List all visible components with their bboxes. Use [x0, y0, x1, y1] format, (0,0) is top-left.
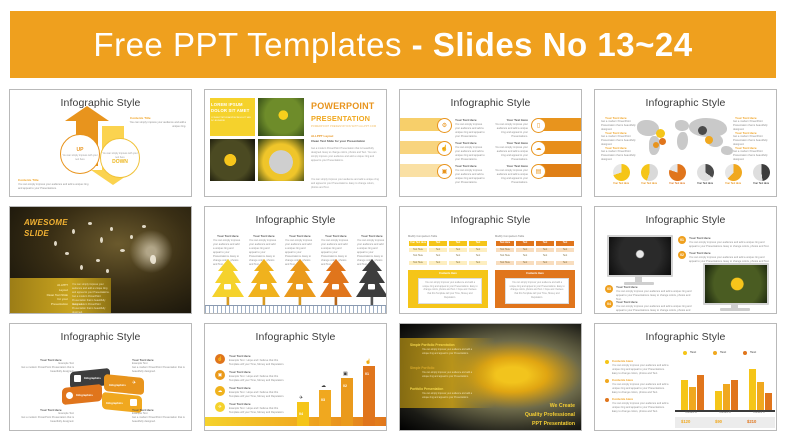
pie-label-5: Your Text Here	[723, 183, 743, 185]
row-left-body-1: You can simply impress your audience and…	[455, 123, 487, 139]
kicker-1: ALLPPT Layout	[311, 134, 333, 138]
table-cell: Text	[428, 260, 448, 267]
bar-chart-plot	[677, 362, 775, 410]
bubble-callout-body-4: Get a modern PowerPoint Presentation tha…	[132, 416, 188, 424]
slide-24-content: Infographic Style Text Text Text Content…	[595, 324, 776, 430]
awesome-line-1: AWESOME	[24, 218, 68, 227]
tagline-line-3: PPT Presentation	[532, 421, 575, 427]
pie-chart-4	[697, 164, 714, 181]
list-heading-3: Your Text Here	[229, 386, 251, 390]
monitor-1-screen	[607, 235, 673, 277]
page-root: Free PPT Templates - Slides No 13~24 Inf…	[0, 0, 786, 445]
value-label-2: $90	[715, 419, 722, 424]
tagline-line-1: We Create	[550, 403, 575, 409]
pie-chart-5	[725, 164, 742, 181]
slide-thumbnail-22[interactable]: Infographic Style ☝ Your Text Here Examp…	[204, 323, 387, 431]
map-marker-3	[653, 142, 659, 148]
list-heading-4: Your Text Here	[229, 402, 251, 406]
slide-13-callout-heading-2: Contents Title	[18, 178, 39, 182]
pie-chart-2	[641, 164, 658, 181]
slide-13-callout-heading-1: Contents Title	[130, 116, 151, 120]
number-badge-04: 04	[605, 300, 613, 308]
headline-line-3: POWERPOINT PRESENTATION WITH ALLPPT.COM	[311, 125, 376, 128]
number-badge-03: 03	[605, 285, 613, 293]
slide-19-content: Infographic Style Modify Comparison Tabl…	[400, 207, 581, 313]
bullet-body-3: You can simply impress your audience and…	[612, 402, 670, 414]
rocket-icon: ✈	[215, 402, 225, 412]
table-cell: Text	[555, 260, 575, 267]
slide-17-content: AWESOME SLIDE ALLPPT Layout Clean Text S…	[10, 207, 191, 313]
tree-heading-5: Your Text Here	[361, 234, 383, 238]
monitor-2-base	[720, 308, 750, 311]
thumbs-up-icon: ☝	[365, 359, 371, 365]
caption-line-3: Clean Text Slide	[47, 293, 68, 297]
item-body-04: You can simply impress your audience and…	[616, 305, 694, 313]
bullet-heading-1: Contents Here	[612, 359, 633, 363]
bubble-label-2: Infographics	[109, 383, 126, 387]
slide-16-title: Infographic Style	[595, 97, 776, 109]
value-label-1: $120	[681, 419, 690, 424]
legend-dot-3	[743, 351, 747, 355]
caption-left-lines: ALLPPT Layout Clean Text Slide for your …	[38, 283, 68, 307]
headline-line-2: PRESENTATION	[311, 114, 370, 123]
item-body-01: You can simply impress your audience and…	[689, 241, 771, 249]
slide-thumbnail-19[interactable]: Infographic Style Modify Comparison Tabl…	[399, 206, 582, 314]
slide-19-title: Infographic Style	[400, 214, 581, 226]
slide-23-content: Simple Portfolio Presentation You can si…	[400, 324, 581, 430]
row-left-body-2: You can simply impress your audience and…	[455, 146, 487, 162]
table-right-caption: Modify Comparison Table	[495, 235, 524, 239]
caption-line-2: Layout	[59, 288, 68, 292]
bar-b-3	[731, 380, 738, 410]
awesome-line-2: SLIDE	[24, 229, 49, 238]
category-label-2: Content B	[713, 411, 737, 415]
mobile-icon: ▯	[531, 118, 546, 133]
bubble-callout-body-2: Get a modern PowerPoint Presentation tha…	[132, 366, 188, 374]
table-cell: Text Here	[495, 260, 515, 267]
slide-thumbnail-21[interactable]: Infographic Style Your Text Here Example…	[9, 323, 192, 431]
thumbs-up-icon: ☝	[437, 141, 452, 156]
slide-15-title: Infographic Style	[400, 97, 581, 109]
cover-title: LOREM IPSUM DOLOR SIT AMET	[211, 102, 253, 113]
cloud-icon: ☁	[321, 383, 326, 389]
slide-thumbnail-24[interactable]: Infographic Style Text Text Text Content…	[594, 323, 777, 431]
contents-box-right-body: You can simply impress your audience and…	[505, 278, 569, 304]
slide-18-title: Infographic Style	[205, 214, 386, 226]
bubble-icon-3	[66, 392, 73, 399]
slide-thumbnail-13[interactable]: Infographic Style Contents Title You can…	[9, 89, 192, 197]
tagline-line-2: Quality Professional	[525, 412, 575, 418]
bullet-body-2: You can simply impress your audience and…	[612, 383, 670, 395]
category-label-1: Content A	[679, 411, 703, 415]
pie-chart-6	[753, 164, 770, 181]
comparison-table-left: Your Text Here Text Text Text Text Here …	[408, 240, 488, 266]
up-circle: UP You can simply impress with your text…	[60, 134, 100, 174]
contents-box-right: Contents Here You can simply impress you…	[495, 270, 575, 308]
cloud-icon: ☁	[215, 386, 225, 396]
awesome-slide-heading: AWESOME SLIDE	[24, 218, 68, 240]
tree-shape-1	[211, 259, 245, 307]
list-heading-2: Your Text Here	[229, 370, 251, 374]
map-right-body-3: Get a modern PowerPoint Presentation tha…	[733, 150, 775, 162]
monitor-2-screen	[703, 263, 769, 305]
slide-13-callout-body-1: You can simply impress your audience and…	[122, 121, 186, 129]
legend-label-1: Text	[690, 350, 696, 354]
bubble-label-4: Infographics	[106, 401, 123, 405]
table-cell: Text	[515, 260, 535, 267]
bar-b-2	[723, 384, 730, 410]
slide-thumbnail-18[interactable]: Infographic Style Your Text Here You can…	[204, 206, 387, 314]
calendar-icon: ▤	[531, 164, 546, 179]
ribbon-bar-03	[319, 390, 331, 426]
slide-thumbnail-16[interactable]: Infographic Style Your Text Here	[594, 89, 777, 197]
world-map-graphic	[635, 116, 739, 160]
slide-13-callout-body-2: You can simply impress your audience and…	[18, 183, 90, 191]
bullet-heading-3: Contents Here	[612, 397, 633, 401]
briefcase-icon: ▣	[437, 164, 452, 179]
tree-shape-4	[319, 259, 353, 307]
row-left-heading-1: Your Text Here	[455, 118, 477, 122]
bar-c-2	[757, 382, 764, 410]
slide-thumbnail-23[interactable]: Simple Portfolio Presentation You can si…	[399, 323, 582, 431]
bullet-body-1: You can simply impress your audience and…	[612, 364, 670, 376]
row-right-body-3: You can simply impress your audience and…	[494, 169, 528, 185]
slide-grid: Infographic Style Contents Title You can…	[9, 89, 777, 434]
value-label-3: $210	[747, 419, 756, 424]
photo-butterfly-flower	[258, 98, 304, 136]
caption-line-5: Presentation	[51, 302, 68, 306]
table-cell: Text Here	[408, 260, 428, 267]
pie-label-4: Your Text Here	[695, 183, 715, 185]
table-left-caption: Modify Comparison Table	[408, 235, 437, 239]
bar-c-3	[765, 393, 772, 410]
banner-title-primary: Free PPT Templates	[93, 26, 402, 63]
caption-line-1: ALLPPT	[57, 283, 68, 287]
row-right-heading-1: Your Text Here	[494, 118, 528, 122]
number-badge-02: 02	[678, 251, 686, 259]
tree-heading-1: Your Text Here	[217, 234, 239, 238]
category-label-3: Content C	[747, 411, 771, 415]
contents-box-right-title: Contents Here	[495, 270, 575, 277]
ribbon-number-02: 02	[343, 384, 347, 388]
photo-yellow-flower	[210, 139, 255, 181]
portfolio-body-3: You can simply impress your audience and…	[422, 393, 472, 400]
list-heading-1: Your Text Here	[229, 354, 251, 358]
slide-22-content: Infographic Style ☝ Your Text Here Examp…	[205, 324, 386, 430]
pie-label-1: Your Text Here	[611, 183, 631, 185]
list-body-3: Example Text : Hope and I believe that t…	[229, 391, 287, 399]
cover-subtitle: CONSECTETUR ADIPISCING ELIT SED DO EIUSM…	[211, 117, 253, 124]
portfolio-heading-3: Portfolio Presentation	[410, 387, 443, 391]
up-circle-text: You can simply impress with your text he…	[61, 154, 99, 161]
list-body-2: Example Text : Hope and I believe that t…	[229, 375, 287, 383]
map-left-body-3: Get a modern PowerPoint Presentation tha…	[601, 150, 641, 162]
portfolio-body-1: You can simply impress your audience and…	[422, 349, 472, 356]
list-body-4: Example Text : Hope and I believe that t…	[229, 407, 287, 415]
bubble-callout-body-1: Get a modern PowerPoint Presentation tha…	[18, 366, 74, 374]
pie-chart-1	[613, 164, 630, 181]
row-right-body-1: You can simply impress your audience and…	[494, 123, 528, 139]
slide-18-content: Infographic Style Your Text Here You can…	[205, 207, 386, 313]
tree-heading-3: Your Text Here	[289, 234, 311, 238]
bullet-dot-3	[605, 398, 609, 402]
slide-thumbnail-15[interactable]: Infographic Style ⚙ Your Text Here You c…	[399, 89, 582, 197]
gear-icon: ⚙	[437, 118, 452, 133]
base-ribbon	[205, 417, 386, 426]
body-paragraph-2: You can simply impress your audience and…	[311, 178, 381, 190]
slide-14-content: LOREM IPSUM DOLOR SIT AMET CONSECTETUR A…	[205, 90, 386, 196]
slide-21-title: Infographic Style	[10, 331, 191, 343]
portfolio-heading-2: Simple Portfolio	[410, 366, 434, 370]
portfolio-heading-1: Simple Portfolio Presentation	[410, 343, 455, 347]
bullet-dot-2	[605, 379, 609, 383]
tree-shape-5	[355, 259, 386, 307]
slide-20-title: Infographic Style	[595, 214, 776, 226]
comparison-table-right: Text Here Text Text Text Text Here Text …	[495, 240, 575, 266]
legend-label-3: Text	[750, 350, 756, 354]
down-label: DOWN	[112, 159, 128, 165]
contents-box-left-title: Contents Here	[408, 270, 488, 277]
ribbon-number-03: 03	[321, 398, 325, 402]
slide-24-title: Infographic Style	[595, 331, 776, 343]
pie-label-2: Your Text Here	[639, 183, 659, 185]
pie-chart-3	[669, 164, 686, 181]
thumbs-up-icon: ☝	[215, 354, 225, 364]
row-left-body-3: You can simply impress your audience and…	[455, 169, 487, 185]
legend-label-2: Text	[720, 350, 726, 354]
kicker-2: Clean Text Slide for your Presentation	[311, 139, 365, 143]
contents-box-left-body: You can simply impress your audience and…	[418, 278, 482, 304]
cloud-icon: ☁	[531, 141, 546, 156]
pie-label-6: Your Text Here	[751, 183, 771, 185]
briefcase-icon: ▣	[343, 371, 348, 377]
table-cell: Text	[448, 260, 468, 267]
tree-heading-2: Your Text Here	[253, 234, 275, 238]
item-heading-01: Your Text Here	[689, 236, 711, 240]
rocket-icon: ✈	[132, 380, 139, 387]
ribbon-number-04: 04	[299, 412, 303, 416]
headline-line-1: POWERPOINT	[311, 101, 375, 111]
legend-dot-1	[683, 351, 687, 355]
down-circle-text: You can simply impress with your text he…	[101, 152, 139, 159]
bar-a-2	[689, 387, 696, 410]
banner-title: Free PPT Templates - Slides No 13~24	[93, 26, 692, 64]
bar-b-1	[715, 391, 722, 410]
slide-thumbnail-20[interactable]: Infographic Style 01 Your Text Here You …	[594, 206, 777, 314]
bubble-callout-body-3: Get a modern PowerPoint Presentation tha…	[18, 416, 74, 424]
table-row: Text Here Text Text Text	[408, 260, 488, 267]
list-body-1: Example Text : Hope and I believe that t…	[229, 359, 287, 367]
bar-c-1	[749, 369, 756, 410]
caption-body-2: Get a modern PowerPoint Presentation tha…	[72, 303, 110, 313]
tree-heading-4: Your Text Here	[325, 234, 347, 238]
briefcase-icon: ▣	[215, 370, 225, 380]
portfolio-body-2: You can simply impress your audience and…	[422, 372, 472, 379]
up-label: UP	[77, 147, 84, 153]
table-cell: Text	[468, 260, 488, 267]
rocket-icon: ✈	[299, 395, 303, 401]
row-right-heading-3: Your Text Here	[494, 164, 528, 168]
photo-bowl-petals	[258, 139, 304, 181]
header-banner: Free PPT Templates - Slides No 13~24	[10, 11, 776, 78]
slide-thumbnail-17[interactable]: AWESOME SLIDE ALLPPT Layout Clean Text S…	[9, 206, 192, 314]
legend-dot-2	[713, 351, 717, 355]
bar-a-3	[697, 375, 704, 410]
slide-13-content: Infographic Style Contents Title You can…	[10, 90, 191, 196]
tree-shape-2	[247, 259, 281, 307]
contents-box-left: Contents Here You can simply impress you…	[408, 270, 488, 308]
pie-label-3: Your Text Here	[667, 183, 687, 185]
bullet-heading-2: Contents Here	[612, 378, 633, 382]
bubble-icon-1	[74, 375, 81, 382]
ribbon-number-01: 01	[365, 372, 369, 376]
row-right-body-2: You can simply impress your audience and…	[494, 146, 528, 162]
slide-16-content: Infographic Style Your Text Here	[595, 90, 776, 196]
table-cell: Text	[535, 260, 555, 267]
item-heading-02: Your Text Here	[689, 251, 711, 255]
down-circle: You can simply impress with your text he…	[100, 138, 140, 178]
caption-line-4: for your	[57, 297, 68, 301]
slide-22-title: Infographic Style	[205, 331, 386, 343]
row-left-heading-2: Your Text Here	[455, 141, 477, 145]
slide-20-content: Infographic Style 01 Your Text Here You …	[595, 207, 776, 313]
number-badge-01: 01	[678, 236, 686, 244]
row-right-heading-2: Your Text Here	[494, 141, 528, 145]
bullet-dot-1	[605, 360, 609, 364]
slide-thumbnail-14[interactable]: LOREM IPSUM DOLOR SIT AMET CONSECTETUR A…	[204, 89, 387, 197]
table-row: Text Here Text Text Text	[495, 260, 575, 267]
map-marker-5	[705, 136, 713, 144]
item-heading-04: Your Text Here	[616, 300, 638, 304]
body-paragraph-1: Get a modern PowerPoint Presentation tha…	[311, 147, 381, 164]
bubble-label-3: Infographics	[76, 393, 93, 397]
map-marker-2	[659, 138, 666, 145]
banner-title-secondary: - Slides No 13~24	[402, 26, 693, 63]
slide-15-content: Infographic Style ⚙ Your Text Here You c…	[400, 90, 581, 196]
bar-a-1	[681, 380, 688, 410]
bubble-label-1: Infographics	[84, 376, 101, 380]
item-heading-03: Your Text Here	[616, 285, 638, 289]
slide-21-content: Infographic Style Your Text Here Example…	[10, 324, 191, 430]
map-marker-4	[698, 126, 707, 135]
map-marker-1	[656, 129, 665, 138]
row-left-heading-3: Your Text Here	[455, 164, 477, 168]
tree-shape-3	[283, 259, 317, 307]
bubble-icon-4	[130, 399, 137, 406]
ground-dots	[205, 306, 386, 313]
